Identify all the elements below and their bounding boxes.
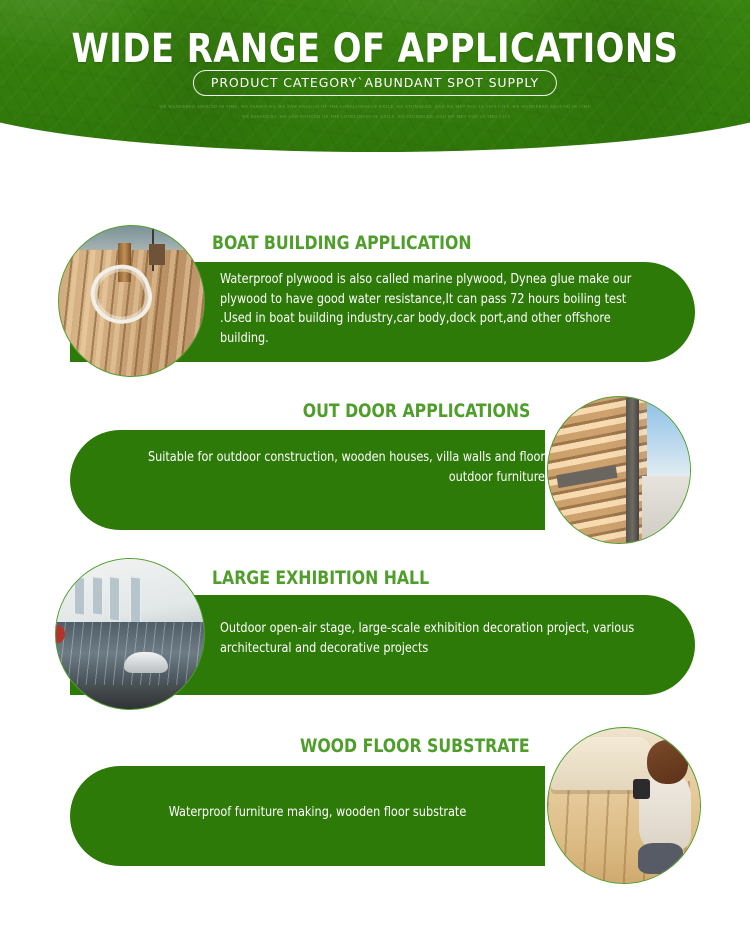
banner-subtitle-line-1: WE WANDERED AROUND IN TIME, WE PASSED BY… <box>0 102 750 112</box>
card-description: Waterproof furniture making, wooden floo… <box>101 803 533 823</box>
photo-water-band <box>59 226 204 250</box>
card-description: Suitable for outdoor construction, woode… <box>113 448 545 487</box>
card-title: LARGE EXHIBITION HALL <box>212 567 429 589</box>
banner-subtitle-line-2: , WE PASSED BY, WE SAW ENOUGH OF THE LON… <box>0 112 750 122</box>
wooden-clad-house-exterior-photo <box>547 396 691 544</box>
card-description: Outdoor open-air stage, large-scale exhi… <box>220 619 652 658</box>
boat-dock-wooden-deck-photo <box>58 225 205 377</box>
application-card-boat-building: BOAT BUILDING APPLICATION Waterproof ply… <box>0 218 750 393</box>
glass-facade-exhibition-building-photo <box>55 558 205 710</box>
photo-window <box>92 576 103 616</box>
application-card-wood-floor-substrate: WOOD FLOOR SUBSTRATE Waterproof furnitur… <box>0 723 750 898</box>
photo-car <box>124 652 168 673</box>
photo-dock-box <box>149 244 165 265</box>
page-title: WIDE RANGE OF APPLICATIONS <box>23 26 728 72</box>
application-card-exhibition-hall: LARGE EXHIBITION HALL Outdoor open-air s… <box>0 553 750 728</box>
photo-handheld-device <box>633 779 650 799</box>
card-title: OUT DOOR APPLICATIONS <box>302 400 530 422</box>
child-on-wooden-floor-photo <box>547 727 701 884</box>
photo-window <box>109 576 120 622</box>
card-title: WOOD FLOOR SUBSTRATE <box>300 735 530 757</box>
card-description: Waterproof plywood is also called marine… <box>220 270 652 348</box>
banner-subtitle-text: WE WANDERED AROUND IN TIME, WE PASSED BY… <box>0 102 750 122</box>
photo-window <box>74 576 85 616</box>
photo-window-slot <box>556 465 617 488</box>
application-card-outdoor: OUT DOOR APPLICATIONS Suitable for outdo… <box>0 388 750 563</box>
photo-window <box>130 576 141 625</box>
photo-child-pants <box>638 843 684 874</box>
photo-child-head <box>647 740 688 783</box>
photo-sky <box>647 397 690 482</box>
photo-terrace <box>642 476 690 543</box>
page-header-banner: WIDE RANGE OF APPLICATIONS PRODUCT CATEG… <box>0 0 750 152</box>
product-category-badge: PRODUCT CATEGORY`ABUNDANT SPOT SUPPLY <box>193 70 557 96</box>
photo-wall-shadow <box>626 397 639 543</box>
card-title: BOAT BUILDING APPLICATION <box>212 232 471 254</box>
photo-road <box>56 685 204 709</box>
photo-coiled-rope <box>83 257 158 332</box>
